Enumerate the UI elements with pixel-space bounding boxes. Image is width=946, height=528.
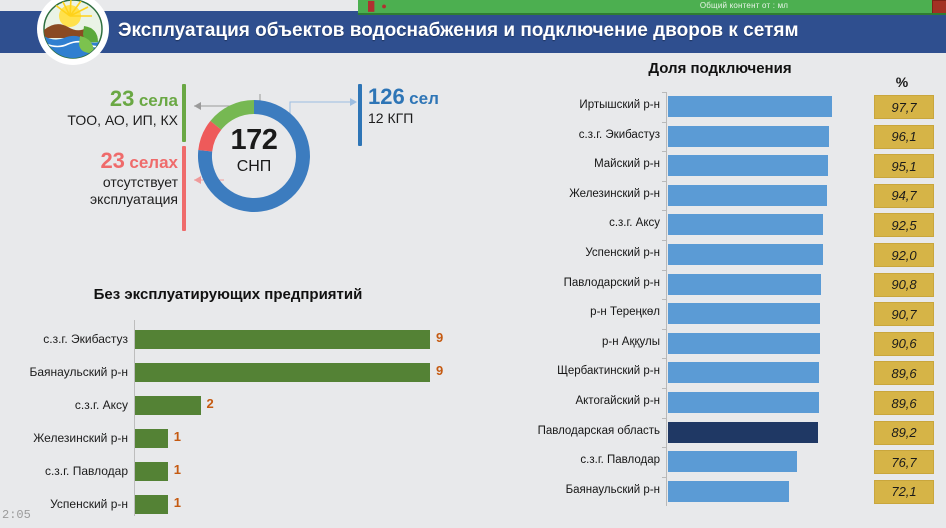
blue-chart-bar (668, 214, 823, 235)
blue-chart-bar-highlighted (668, 422, 818, 443)
blue-chart-row-label: Щербактинский р-н (480, 365, 660, 377)
blue-chart-row: р-н Тереңкөл90,7 (480, 299, 946, 329)
blue-chart-bar (668, 126, 829, 147)
green-chart-row: Баянаульский р-н9 (0, 357, 470, 390)
blue-chart-row: с.з.г. Экибастуз96,1 (480, 122, 946, 152)
blue-chart-row: Баянаульский р-н72,1 (480, 477, 946, 507)
green-chart-row-label: Баянаульский р-н (0, 365, 128, 379)
blue-chart-row: с.з.г. Павлодар76,7 (480, 447, 946, 477)
callout-green-value: 23 (110, 86, 134, 111)
blue-chart-bar (668, 481, 789, 502)
blue-chart-bar (668, 185, 827, 206)
blue-chart-percent-badge: 89,6 (874, 361, 934, 385)
green-chart-row: с.з.г. Экибастуз9 (0, 324, 470, 357)
blue-bar-chart: Доля подключения % Иртышский р-н97,7с.з.… (480, 56, 946, 528)
blue-chart-row-label: Баянаульский р-н (480, 484, 660, 496)
blue-chart-percent-badge: 90,7 (874, 302, 934, 326)
blue-chart-percent-badge: 94,7 (874, 184, 934, 208)
donut-center-label: СНП (184, 158, 324, 176)
blue-chart-row-label: Иртышский р-н (480, 99, 660, 111)
blue-chart-tick (662, 299, 667, 300)
person-icon[interactable]: ● (381, 2, 386, 11)
callout-blue: 126 сел 12 КГП (368, 84, 478, 127)
blue-chart-row: Павлодарская область89,2 (480, 418, 946, 448)
page-header: Эксплуатация объектов водоснабжения и по… (0, 11, 946, 53)
callout-blue-sub: 12 КГП (368, 110, 478, 127)
callout-blue-unit: сел (409, 89, 439, 108)
green-chart-row-label: с.з.г. Павлодар (0, 464, 128, 478)
blue-chart-row: Щербактинский р-н89,6 (480, 358, 946, 388)
green-chart-row-label: Железинский р-н (0, 431, 128, 445)
green-chart-bar (135, 462, 168, 481)
blue-chart-bar (668, 274, 821, 295)
blue-chart-bar (668, 392, 819, 413)
callout-red-sub-line1: отсутствует (18, 174, 178, 191)
blue-chart-percent-badge: 76,7 (874, 450, 934, 474)
donut-panel: 23 села ТОО, АО, ИП, КХ 23 селах отсутст… (0, 56, 480, 281)
blue-chart-tick (662, 270, 667, 271)
green-chart-value: 2 (207, 396, 214, 411)
green-bar-chart: Без эксплуатирующих предприятий с.з.г. Э… (0, 282, 470, 528)
blue-chart-tick (662, 447, 667, 448)
screen-capture-overlay: █ ● Общий контент от : мл Стоп (358, 0, 946, 15)
blue-chart-bar (668, 155, 828, 176)
blue-chart-bar (668, 333, 820, 354)
callout-red: 23 селах отсутствует эксплуатация (18, 148, 178, 208)
blue-chart-percent-badge: 97,7 (874, 95, 934, 119)
blue-chart-row: Успенский р-н92,0 (480, 240, 946, 270)
blue-chart-percent-badge: 72,1 (874, 480, 934, 504)
blue-chart-row-label: Майский р-н (480, 158, 660, 170)
green-chart-value: 1 (174, 495, 181, 510)
blue-chart-bar (668, 362, 819, 383)
green-chart-value: 9 (436, 363, 443, 378)
green-chart-bar (135, 396, 201, 415)
blue-chart-row-label: с.з.г. Аксу (480, 217, 660, 229)
blue-chart-tick (662, 181, 667, 182)
blue-chart-percent-badge: 90,6 (874, 332, 934, 356)
green-chart-bar (135, 330, 430, 349)
green-chart-bar (135, 429, 168, 448)
callout-red-value: 23 (100, 148, 124, 173)
blue-chart-bar (668, 451, 797, 472)
donut-chart: 172 СНП (184, 86, 324, 226)
blue-chart-tick (662, 122, 667, 123)
record-icon[interactable]: █ (368, 2, 374, 11)
blue-chart-row-label: с.з.г. Павлодар (480, 454, 660, 466)
green-chart-bar (135, 363, 430, 382)
donut-center-value: 172 (184, 124, 324, 157)
callout-red-sub-line2: эксплуатация (18, 191, 178, 208)
blue-chart-row-label: Павлодарская область (480, 425, 660, 437)
blue-chart-row: Актогайский р-н89,6 (480, 388, 946, 418)
capture-status-text: Общий контент от : мл (700, 1, 788, 10)
blue-chart-row: с.з.г. Аксу92,5 (480, 210, 946, 240)
blue-chart-percent-badge: 95,1 (874, 154, 934, 178)
blue-chart-tick (662, 418, 667, 419)
green-chart-row-label: с.з.г. Экибастуз (0, 332, 128, 346)
green-chart-row: Железинский р-н1 (0, 423, 470, 456)
blue-chart-bar (668, 303, 820, 324)
blue-chart-tick (662, 210, 667, 211)
green-chart-row-label: с.з.г. Аксу (0, 398, 128, 412)
blue-chart-row: Железинский р-н94,7 (480, 181, 946, 211)
capture-icons: █ ● (368, 0, 387, 13)
green-chart-row: с.з.г. Павлодар1 (0, 456, 470, 489)
blue-chart-bar (668, 96, 832, 117)
blue-chart-row: Майский р-н95,1 (480, 151, 946, 181)
blue-chart-percent-badge: 90,8 (874, 273, 934, 297)
percent-column-header: % (872, 74, 932, 90)
callout-red-unit: селах (129, 153, 178, 172)
blue-chart-row: Павлодарский р-н90,8 (480, 270, 946, 300)
callout-green-unit: села (139, 91, 178, 110)
blue-chart-tick (662, 329, 667, 330)
blue-chart-tick (662, 358, 667, 359)
callout-green: 23 села ТОО, АО, ИП, КХ (18, 86, 178, 129)
green-chart-value: 9 (436, 330, 443, 345)
blue-chart-tick (662, 477, 667, 478)
blue-chart-row: Иртышский р-н97,7 (480, 92, 946, 122)
green-chart-row: Успенский р-н1 (0, 489, 470, 522)
blue-chart-percent-badge: 89,6 (874, 391, 934, 415)
blue-chart-tick (662, 388, 667, 389)
green-chart-bar (135, 495, 168, 514)
blue-chart-row-label: р-н Тереңкөл (480, 306, 660, 318)
blue-chart-tick (662, 92, 667, 93)
blue-chart-percent-badge: 92,0 (874, 243, 934, 267)
green-chart-value: 1 (174, 462, 181, 477)
blue-chart-percent-badge: 92,5 (874, 213, 934, 237)
green-chart-row: с.з.г. Аксу2 (0, 390, 470, 423)
blue-chart-row-label: Успенский р-н (480, 247, 660, 259)
blue-chart-row-label: с.з.г. Экибастуз (480, 129, 660, 141)
callout-green-sub: ТОО, АО, ИП, КХ (18, 112, 178, 129)
blue-chart-row-label: р-н Аққулы (480, 336, 660, 348)
blue-chart-row-label: Павлодарский р-н (480, 277, 660, 289)
blue-chart-row: р-н Аққулы90,6 (480, 329, 946, 359)
blue-chart-row-label: Железинский р-н (480, 188, 660, 200)
blue-chart-bar (668, 244, 823, 265)
callout-blue-value: 126 (368, 84, 405, 109)
blue-chart-row-label: Актогайский р-н (480, 395, 660, 407)
green-chart-title: Без эксплуатирующих предприятий (0, 286, 456, 303)
green-chart-value: 1 (174, 429, 181, 444)
blue-chart-percent-badge: 89,2 (874, 421, 934, 445)
blue-chart-title: Доля подключения (520, 60, 920, 77)
page-title: Эксплуатация объектов водоснабжения и по… (118, 20, 799, 42)
blue-chart-tick (662, 240, 667, 241)
blue-chart-tick (662, 151, 667, 152)
stop-button[interactable]: Стоп (932, 0, 946, 14)
blue-chart-percent-badge: 96,1 (874, 125, 934, 149)
video-timestamp: 2:05 (2, 508, 31, 522)
